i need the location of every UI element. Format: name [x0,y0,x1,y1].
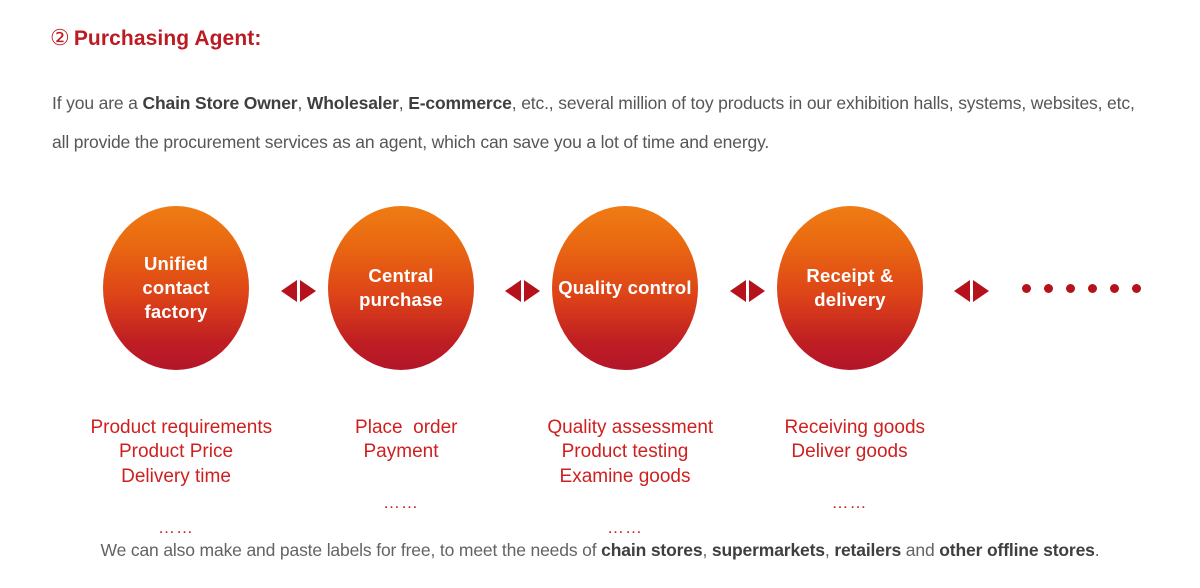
triangle-right-icon [749,280,765,302]
triangle-left-icon [730,280,746,302]
footer-emphasis-other-offline-stores: other offline stores [939,540,1095,560]
triangle-left-icon [281,280,297,302]
flow-caption-lines: Product requirements Product Price Deliv… [90,417,272,487]
flow-node-quality-control[interactable]: Quality control [552,206,698,370]
footer-sep-1: , [702,540,711,560]
process-flow-diagram: Unified contact factory Central purchase… [0,206,1200,376]
flow-caption-lines: Place order Payment [355,417,457,463]
continuation-dot-icon [1110,284,1119,293]
flow-continuation-dots [1022,284,1141,293]
flow-caption-ellipsis: …… [315,489,487,516]
section-number-icon: ② [50,25,70,50]
flow-caption-central-purchase: Place order Payment …… [315,391,487,540]
page-title-text: Purchasing Agent: [74,27,262,50]
flow-caption-receipt-delivery: Receiving goods Deliver goods …… [762,391,937,540]
flow-node-label: Receipt & delivery [777,264,923,312]
triangle-right-icon [300,280,316,302]
footer-note: We can also make and paste labels for fr… [0,540,1200,561]
flow-arrow-bidirectional-4 [951,280,991,302]
flow-node-label: Unified contact factory [103,252,249,324]
continuation-dot-icon [1088,284,1097,293]
footer-text-mid: and [901,540,939,560]
triangle-right-icon [973,280,989,302]
continuation-dot-icon [1132,284,1141,293]
intro-sep-2: , [399,93,408,113]
footer-sep-2: , [825,540,834,560]
intro-emphasis-chain-store-owner: Chain Store Owner [142,93,297,113]
triangle-left-icon [505,280,521,302]
intro-emphasis-wholesaler: Wholesaler [307,93,399,113]
flow-node-label: Quality control [552,276,698,300]
flow-caption-lines: Quality assessment Product testing Exami… [547,417,713,487]
footer-emphasis-chain-stores: chain stores [601,540,702,560]
flow-node-receipt-delivery[interactable]: Receipt & delivery [777,206,923,370]
page-title: ②Purchasing Agent: [50,25,261,51]
footer-text-lead: We can also make and paste labels for fr… [101,540,602,560]
continuation-dot-icon [1044,284,1053,293]
intro-paragraph: If you are a Chain Store Owner, Wholesal… [52,84,1152,162]
flow-caption-ellipsis: …… [762,489,937,516]
flow-arrow-bidirectional-2 [502,280,542,302]
flow-caption-ellipsis: …… [525,514,725,541]
triangle-left-icon [954,280,970,302]
flow-node-unified-contact-factory[interactable]: Unified contact factory [103,206,249,370]
intro-text-lead: If you are a [52,93,142,113]
flow-caption-lines: Receiving goods Deliver goods [785,417,925,463]
flow-caption-ellipsis: …… [60,514,292,541]
triangle-right-icon [524,280,540,302]
continuation-dot-icon [1066,284,1075,293]
intro-sep-1: , [297,93,306,113]
flow-caption-unified-contact-factory: Product requirements Product Price Deliv… [60,391,292,565]
flow-arrow-bidirectional-1 [278,280,318,302]
flow-node-central-purchase[interactable]: Central purchase [328,206,474,370]
footer-emphasis-supermarkets: supermarkets [712,540,825,560]
flow-node-label: Central purchase [328,264,474,312]
intro-emphasis-ecommerce: E-commerce [408,93,512,113]
continuation-dot-icon [1022,284,1031,293]
footer-emphasis-retailers: retailers [834,540,901,560]
flow-caption-quality-control: Quality assessment Product testing Exami… [525,391,725,565]
flow-arrow-bidirectional-3 [727,280,767,302]
footer-text-tail: . [1095,540,1100,560]
